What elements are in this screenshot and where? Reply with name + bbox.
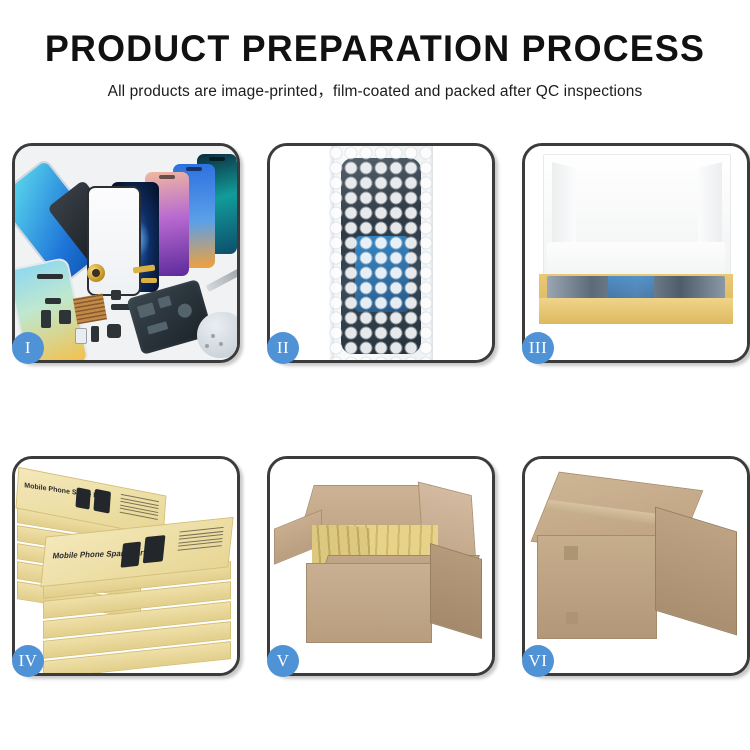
chip-icon: [137, 302, 156, 318]
bubbles-texture-icon: [329, 146, 433, 360]
earpiece-speaker-icon: [37, 274, 63, 279]
carton-side-face-icon: [655, 506, 737, 635]
step-panel-6[interactable]: VI: [522, 456, 750, 676]
box-tray-icon: [539, 274, 733, 324]
step-badge-2: II: [267, 332, 299, 364]
step-1-image: [15, 146, 237, 360]
screw-icon: [211, 334, 215, 338]
sim-tray-icon: [75, 328, 87, 344]
carton-front-face-icon: [537, 535, 657, 639]
step-badge-6: VI: [522, 645, 554, 677]
step-badge-1: I: [12, 332, 44, 364]
small-part-icon: [41, 310, 51, 328]
taptic-engine-icon: [107, 324, 121, 338]
carton-front-face-icon: [306, 563, 432, 643]
small-part-icon: [111, 290, 121, 300]
camera-ring-icon: [87, 264, 105, 282]
step-6-image: [525, 459, 747, 673]
step-panel-4[interactable]: Mobile Phone Spare Parts Mobile Phone Sp…: [12, 456, 240, 676]
small-part-icon: [59, 310, 71, 324]
page-title: PRODUCT PREPARATION PROCESS: [11, 30, 739, 67]
step-badge-4: IV: [12, 645, 44, 677]
notch-icon: [186, 167, 202, 171]
step-panel-5[interactable]: V: [267, 456, 495, 676]
flex-cable-icon: [141, 278, 157, 283]
step-4-image: Mobile Phone Spare Parts Mobile Phone Sp…: [15, 459, 237, 673]
step-panel-2[interactable]: II: [267, 143, 495, 363]
chip-icon: [147, 321, 168, 334]
screw-icon: [219, 342, 223, 346]
box-print-image-icon: [121, 542, 142, 568]
step-badge-3: III: [522, 332, 554, 364]
step-panel-1[interactable]: I: [12, 143, 240, 363]
step-3-image: [525, 146, 747, 360]
step-panel-3[interactable]: III: [522, 143, 750, 363]
page-subtitle: All products are image-printed，film-coat…: [0, 79, 750, 101]
screw-icon: [205, 344, 209, 348]
kraft-box-stack-icon: Mobile Phone Spare Parts Mobile Phone Sp…: [15, 459, 237, 673]
chip-icon: [157, 295, 171, 308]
copper-mesh-icon: [73, 294, 107, 325]
chip-icon: [176, 302, 193, 319]
carton-side-face-icon: [430, 543, 482, 639]
hand-icon: [197, 312, 237, 358]
step-badge-5: V: [267, 645, 299, 677]
bubble-wrap-bag-icon: [329, 146, 433, 360]
box-print-image-icon: [93, 489, 111, 514]
small-part-icon: [45, 298, 61, 304]
box-tray-front-icon: [539, 298, 733, 324]
box-print-image-icon: [75, 487, 90, 509]
carton-mark-icon: [566, 612, 578, 624]
tweezers-icon: [206, 267, 237, 292]
notch-icon: [159, 175, 175, 179]
process-steps-grid: I II: [12, 143, 738, 676]
small-part-icon: [91, 326, 99, 342]
step-5-image: [270, 459, 492, 673]
notch-icon: [209, 157, 225, 161]
box-print-image-icon: [143, 535, 166, 563]
page-header: PRODUCT PREPARATION PROCESS All products…: [0, 0, 750, 101]
step-2-image: [270, 146, 492, 360]
carton-mark-icon: [564, 546, 578, 560]
